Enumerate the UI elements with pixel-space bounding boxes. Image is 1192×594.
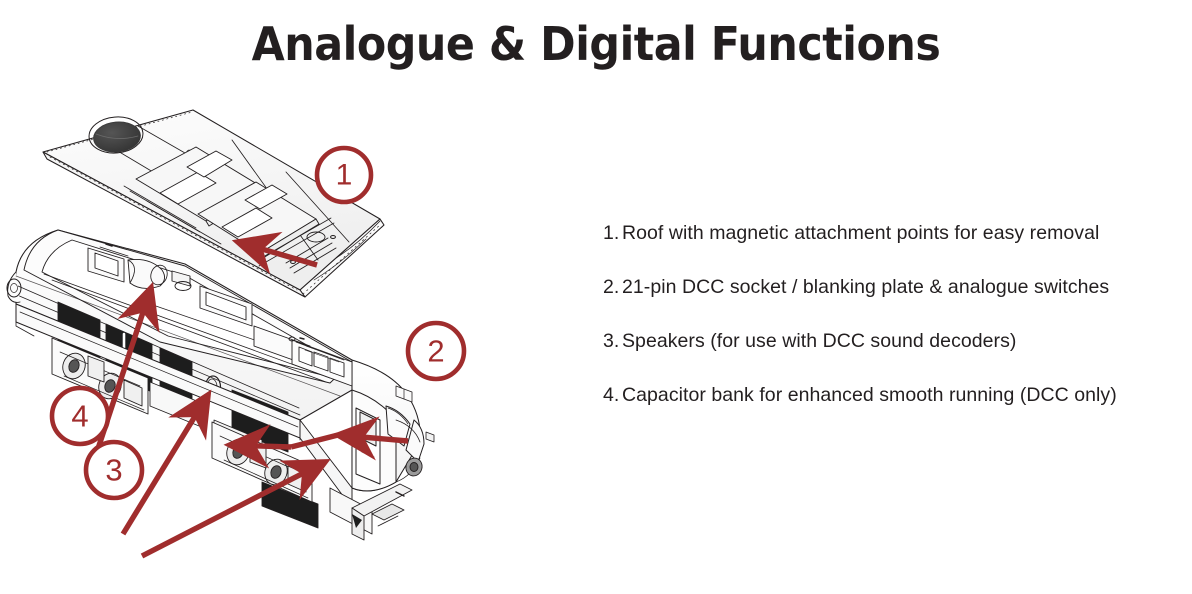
legend-item-3: 3. Speakers (for use with DCC sound deco… bbox=[603, 330, 1188, 384]
slide-canvas: Analogue & Digital Functions bbox=[0, 0, 1192, 594]
legend-number-2: 2. bbox=[603, 276, 622, 299]
callout-marker-2[interactable]: 2 bbox=[408, 323, 464, 379]
callout-label-2: 2 bbox=[427, 334, 444, 369]
legend-item-4: 4. Capacitor bank for enhanced smooth ru… bbox=[603, 384, 1188, 438]
callout-label-3: 3 bbox=[105, 453, 122, 488]
legend-number-4: 4. bbox=[603, 384, 622, 407]
locomotive-body bbox=[7, 230, 434, 540]
legend-text-1: Roof with magnetic attachment points for… bbox=[622, 222, 1099, 245]
locomotive-svg: 1 2 3 4 bbox=[0, 90, 560, 560]
legend-item-1: 1. Roof with magnetic attachment points … bbox=[603, 222, 1188, 276]
legend-item-2: 2. 21-pin DCC socket / blanking plate & … bbox=[603, 276, 1188, 330]
functions-legend: 1. Roof with magnetic attachment points … bbox=[603, 222, 1188, 438]
legend-text-2: 21-pin DCC socket / blanking plate & ana… bbox=[622, 276, 1109, 299]
callout-label-1: 1 bbox=[336, 159, 353, 192]
locomotive-illustration: 1 2 3 4 bbox=[0, 90, 560, 560]
page-title: Analogue & Digital Functions bbox=[42, 17, 1151, 71]
callout-marker-3[interactable]: 3 bbox=[86, 442, 142, 498]
legend-number-3: 3. bbox=[603, 330, 622, 353]
callout-marker-4[interactable]: 4 bbox=[52, 388, 108, 444]
callout-marker-1[interactable]: 1 bbox=[317, 148, 371, 202]
callout-label-4: 4 bbox=[71, 399, 88, 434]
legend-text-3: Speakers (for use with DCC sound decoder… bbox=[622, 330, 1016, 353]
legend-number-1: 1. bbox=[603, 222, 622, 245]
legend-text-4: Capacitor bank for enhanced smooth runni… bbox=[622, 384, 1117, 407]
callout-arrow-2b bbox=[230, 445, 291, 447]
